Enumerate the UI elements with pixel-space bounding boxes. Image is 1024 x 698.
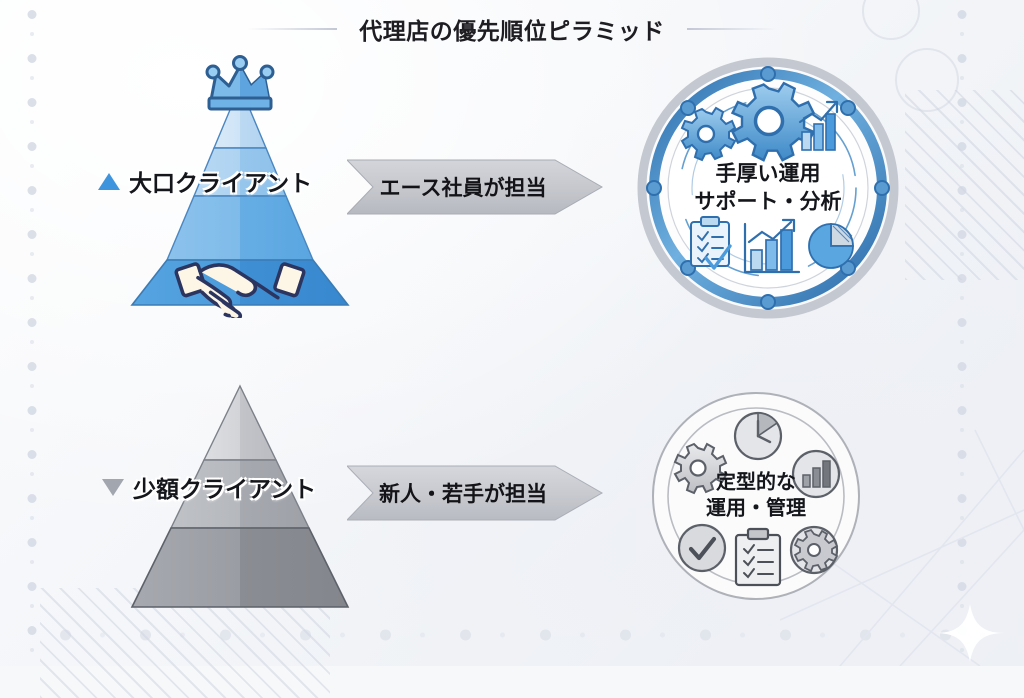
badge-high[interactable]: 手厚い運用 サポート・分析	[636, 56, 900, 320]
handshake-icon	[175, 263, 304, 318]
clipboard-check-icon	[691, 217, 730, 268]
arrow-label-low: 新人・若手が担当	[347, 462, 605, 524]
triangle-up-icon	[98, 173, 120, 190]
pyramid-label-high: 大口クライアント	[98, 164, 312, 198]
pyramid-label-text: 大口クライアント	[129, 164, 312, 198]
row-priority-high: 大口クライアント エース社員が担当	[0, 48, 1024, 328]
arrow-label-high: エース社員が担当	[347, 156, 605, 218]
bar-chart-icon	[793, 451, 839, 497]
header-rule-right	[687, 28, 777, 30]
pyramid-label-low: 少額クライアント	[102, 470, 316, 504]
pyramid-label-text: 少額クライアント	[133, 470, 316, 504]
gear-icon	[791, 527, 837, 573]
pie-clock-icon	[735, 413, 781, 459]
pie-chart-icon	[809, 224, 853, 268]
triangle-down-icon	[102, 479, 124, 496]
infographic-canvas: 代理店の優先順位ピラミッド	[0, 0, 1024, 666]
clipboard-list-icon	[736, 529, 780, 585]
check-circle-icon	[679, 525, 725, 571]
header-rule-left	[247, 28, 337, 30]
arrow-high[interactable]: エース社員が担当	[347, 156, 605, 218]
row-priority-low: 少額クライアント 新人・若手が担当	[0, 372, 1024, 652]
page-header: 代理店の優先順位ピラミッド	[0, 12, 1024, 46]
crown-icon	[207, 57, 273, 110]
badge-blue-graphic	[636, 56, 900, 320]
page-title: 代理店の優先順位ピラミッド	[359, 12, 665, 46]
badge-gray-graphic	[650, 390, 862, 602]
badge-low[interactable]: 定型的な 運用・管理	[650, 390, 862, 602]
arrow-low[interactable]: 新人・若手が担当	[347, 462, 605, 524]
